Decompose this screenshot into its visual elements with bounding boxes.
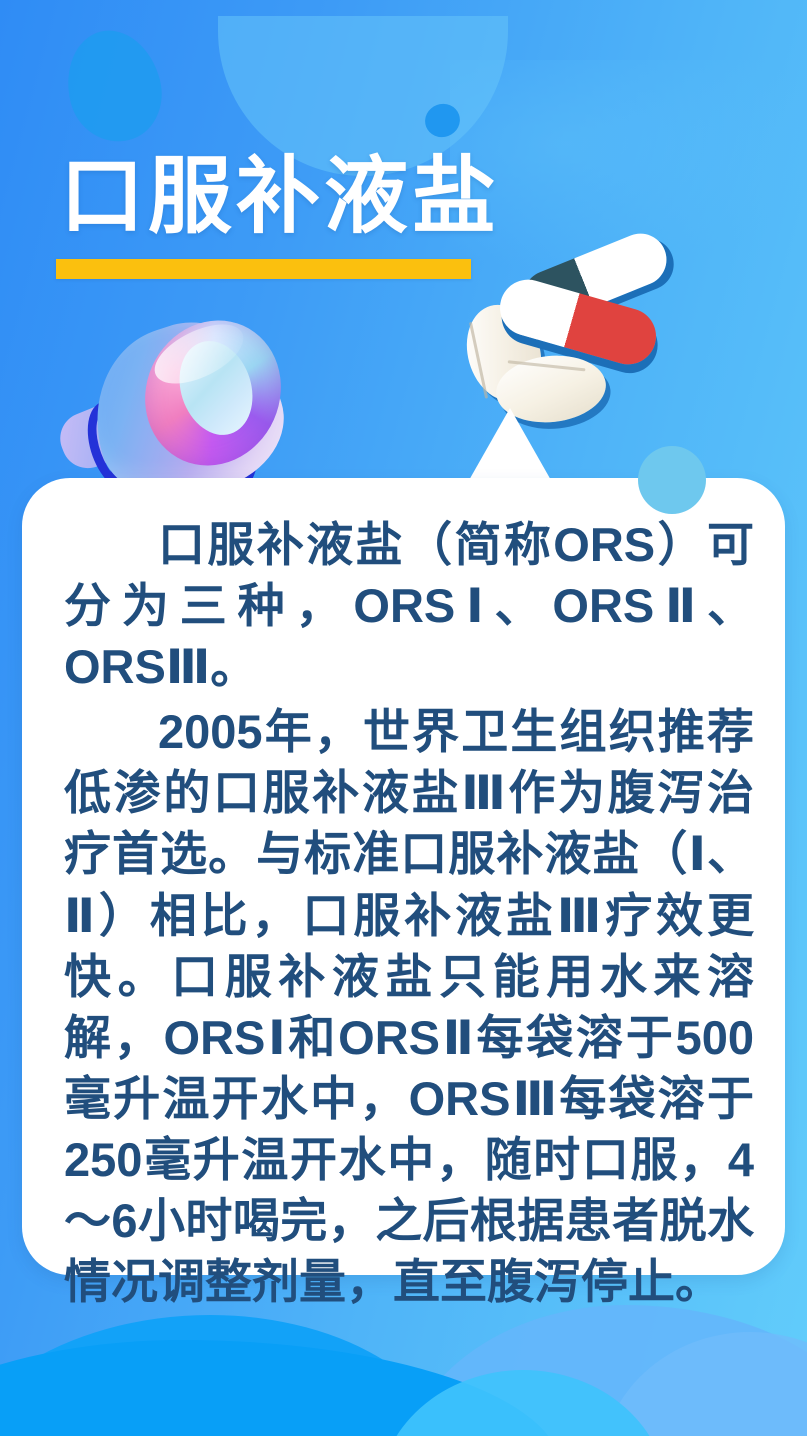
title-underline-bar (56, 259, 471, 279)
bottom-wave-cyan (378, 1370, 668, 1436)
bottom-wave-dark (0, 1340, 560, 1436)
bottom-wave-mid (0, 1315, 460, 1436)
decor-circle (638, 446, 706, 514)
top-ellipse-shape (56, 21, 172, 152)
poster-root: 口服补液盐 口服补液盐（简称ORS）可分为三种，ORSⅠ、ORSⅡ、ORSⅢ。 … (0, 0, 807, 1436)
content-card: 口服补液盐（简称ORS）可分为三种，ORSⅠ、ORSⅡ、ORSⅢ。 2005年，… (22, 478, 785, 1275)
speech-bubble-pointer (468, 408, 552, 482)
bottom-wave-light (400, 1305, 807, 1436)
top-dot-shape (420, 99, 464, 142)
paragraph-1: 口服补液盐（简称ORS）可分为三种，ORSⅠ、ORSⅡ、ORSⅢ。 (64, 514, 754, 697)
bottom-wave-light-2 (600, 1332, 807, 1436)
page-title: 口服补液盐 (60, 152, 500, 240)
body-text: 口服补液盐（简称ORS）可分为三种，ORSⅠ、ORSⅡ、ORSⅢ。 2005年，… (64, 514, 754, 1316)
paragraph-2: 2005年，世界卫生组织推荐低渗的口服补液盐Ⅲ作为腹泻治疗首选。与标准口服补液盐… (64, 701, 754, 1312)
